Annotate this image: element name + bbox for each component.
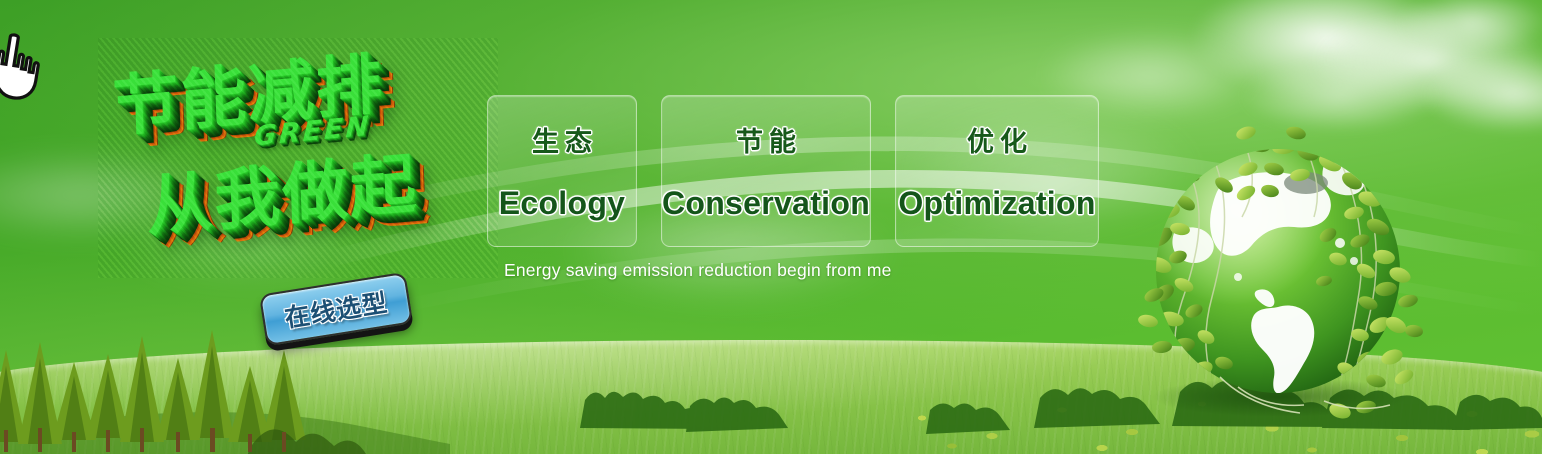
eco-hero-banner: 节能减排 GREEN 从我做起 在线选型 生态 Ecology 节能 Conse…	[0, 0, 1542, 454]
headline-line-2: 从我做起	[145, 130, 419, 250]
online-selection-button[interactable]: 在线选型	[259, 272, 413, 347]
feature-card-en-label: Optimization	[898, 185, 1095, 222]
feature-card-list: 生态 Ecology 节能 Conservation 优化 Optimizati…	[487, 95, 1099, 247]
feature-card-ecology[interactable]: 生态 Ecology	[487, 95, 637, 247]
hand-pointer-icon	[0, 21, 58, 109]
cta-label: 在线选型	[259, 272, 413, 347]
tagline: Energy saving emission reduction begin f…	[504, 260, 892, 281]
feature-card-cn-label: 节能	[736, 120, 802, 159]
feature-card-conservation[interactable]: 节能 Conservation	[661, 95, 871, 247]
feature-card-cn-label: 生态	[532, 120, 598, 159]
feature-card-en-label: Conservation	[662, 185, 870, 222]
feature-card-optimization[interactable]: 优化 Optimization	[895, 95, 1099, 247]
headline-3d-text: 节能减排 GREEN 从我做起	[98, 38, 498, 278]
feature-card-cn-label: 优化	[967, 120, 1033, 159]
leafy-globe-icon	[1128, 125, 1428, 425]
feature-card-en-label: Ecology	[499, 185, 626, 222]
